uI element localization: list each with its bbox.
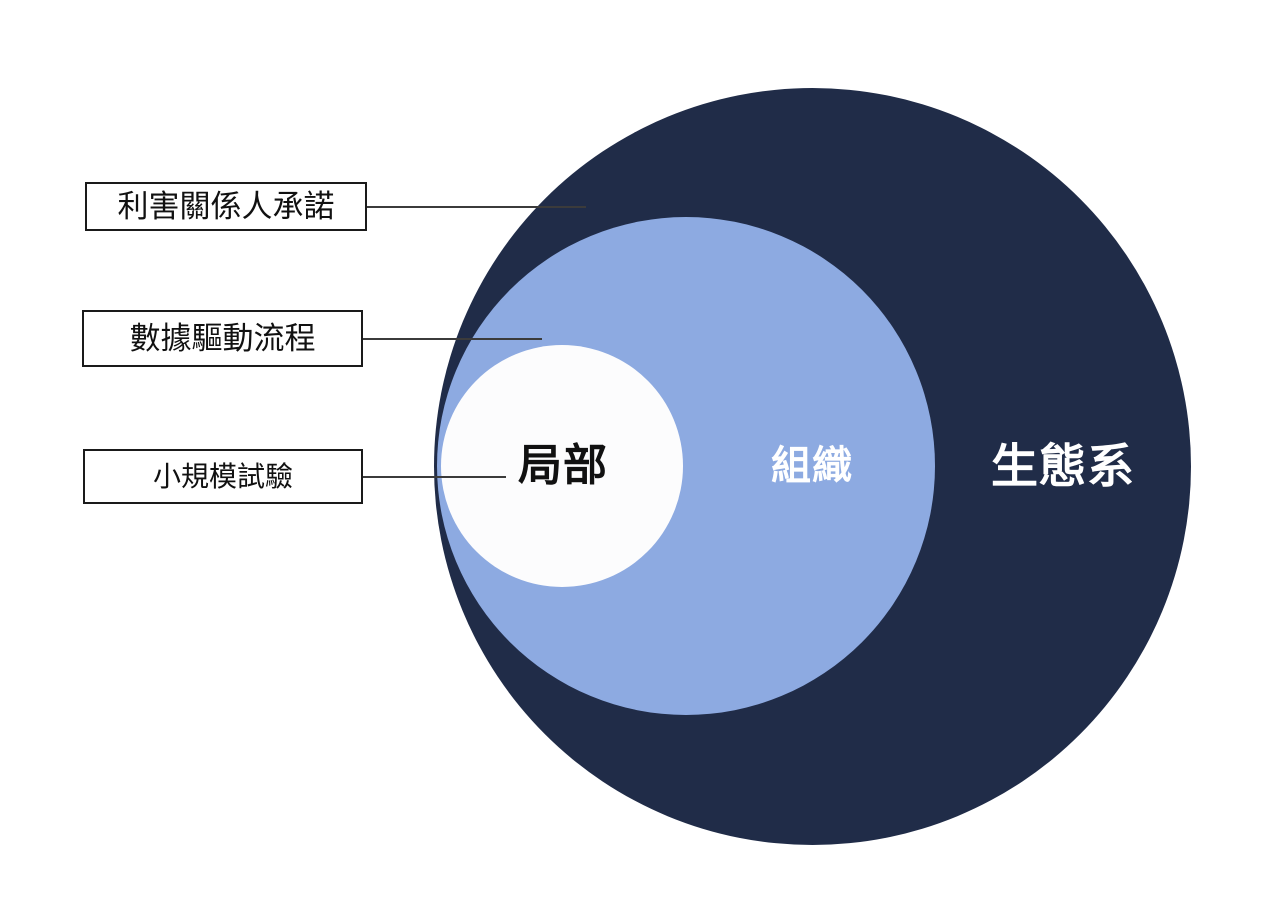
- diagram-canvas: 生態系 組織 局部 利害關係人承諾 數據驅動流程 小規模試驗: [0, 0, 1269, 921]
- callout-box-stakeholder-commitment[interactable]: 利害關係人承諾: [85, 182, 367, 231]
- connector-line-stakeholder-commitment: [367, 206, 586, 208]
- circle-label-organization: 組織: [771, 446, 853, 486]
- circle-label-local: 局部: [518, 444, 608, 488]
- connector-line-small-scale-pilot: [363, 476, 506, 478]
- callout-box-small-scale-pilot[interactable]: 小規模試驗: [83, 449, 363, 504]
- circle-label-ecosystem: 生態系: [991, 443, 1135, 490]
- callout-box-data-driven-process[interactable]: 數據驅動流程: [82, 310, 363, 367]
- connector-line-data-driven-process: [363, 338, 542, 340]
